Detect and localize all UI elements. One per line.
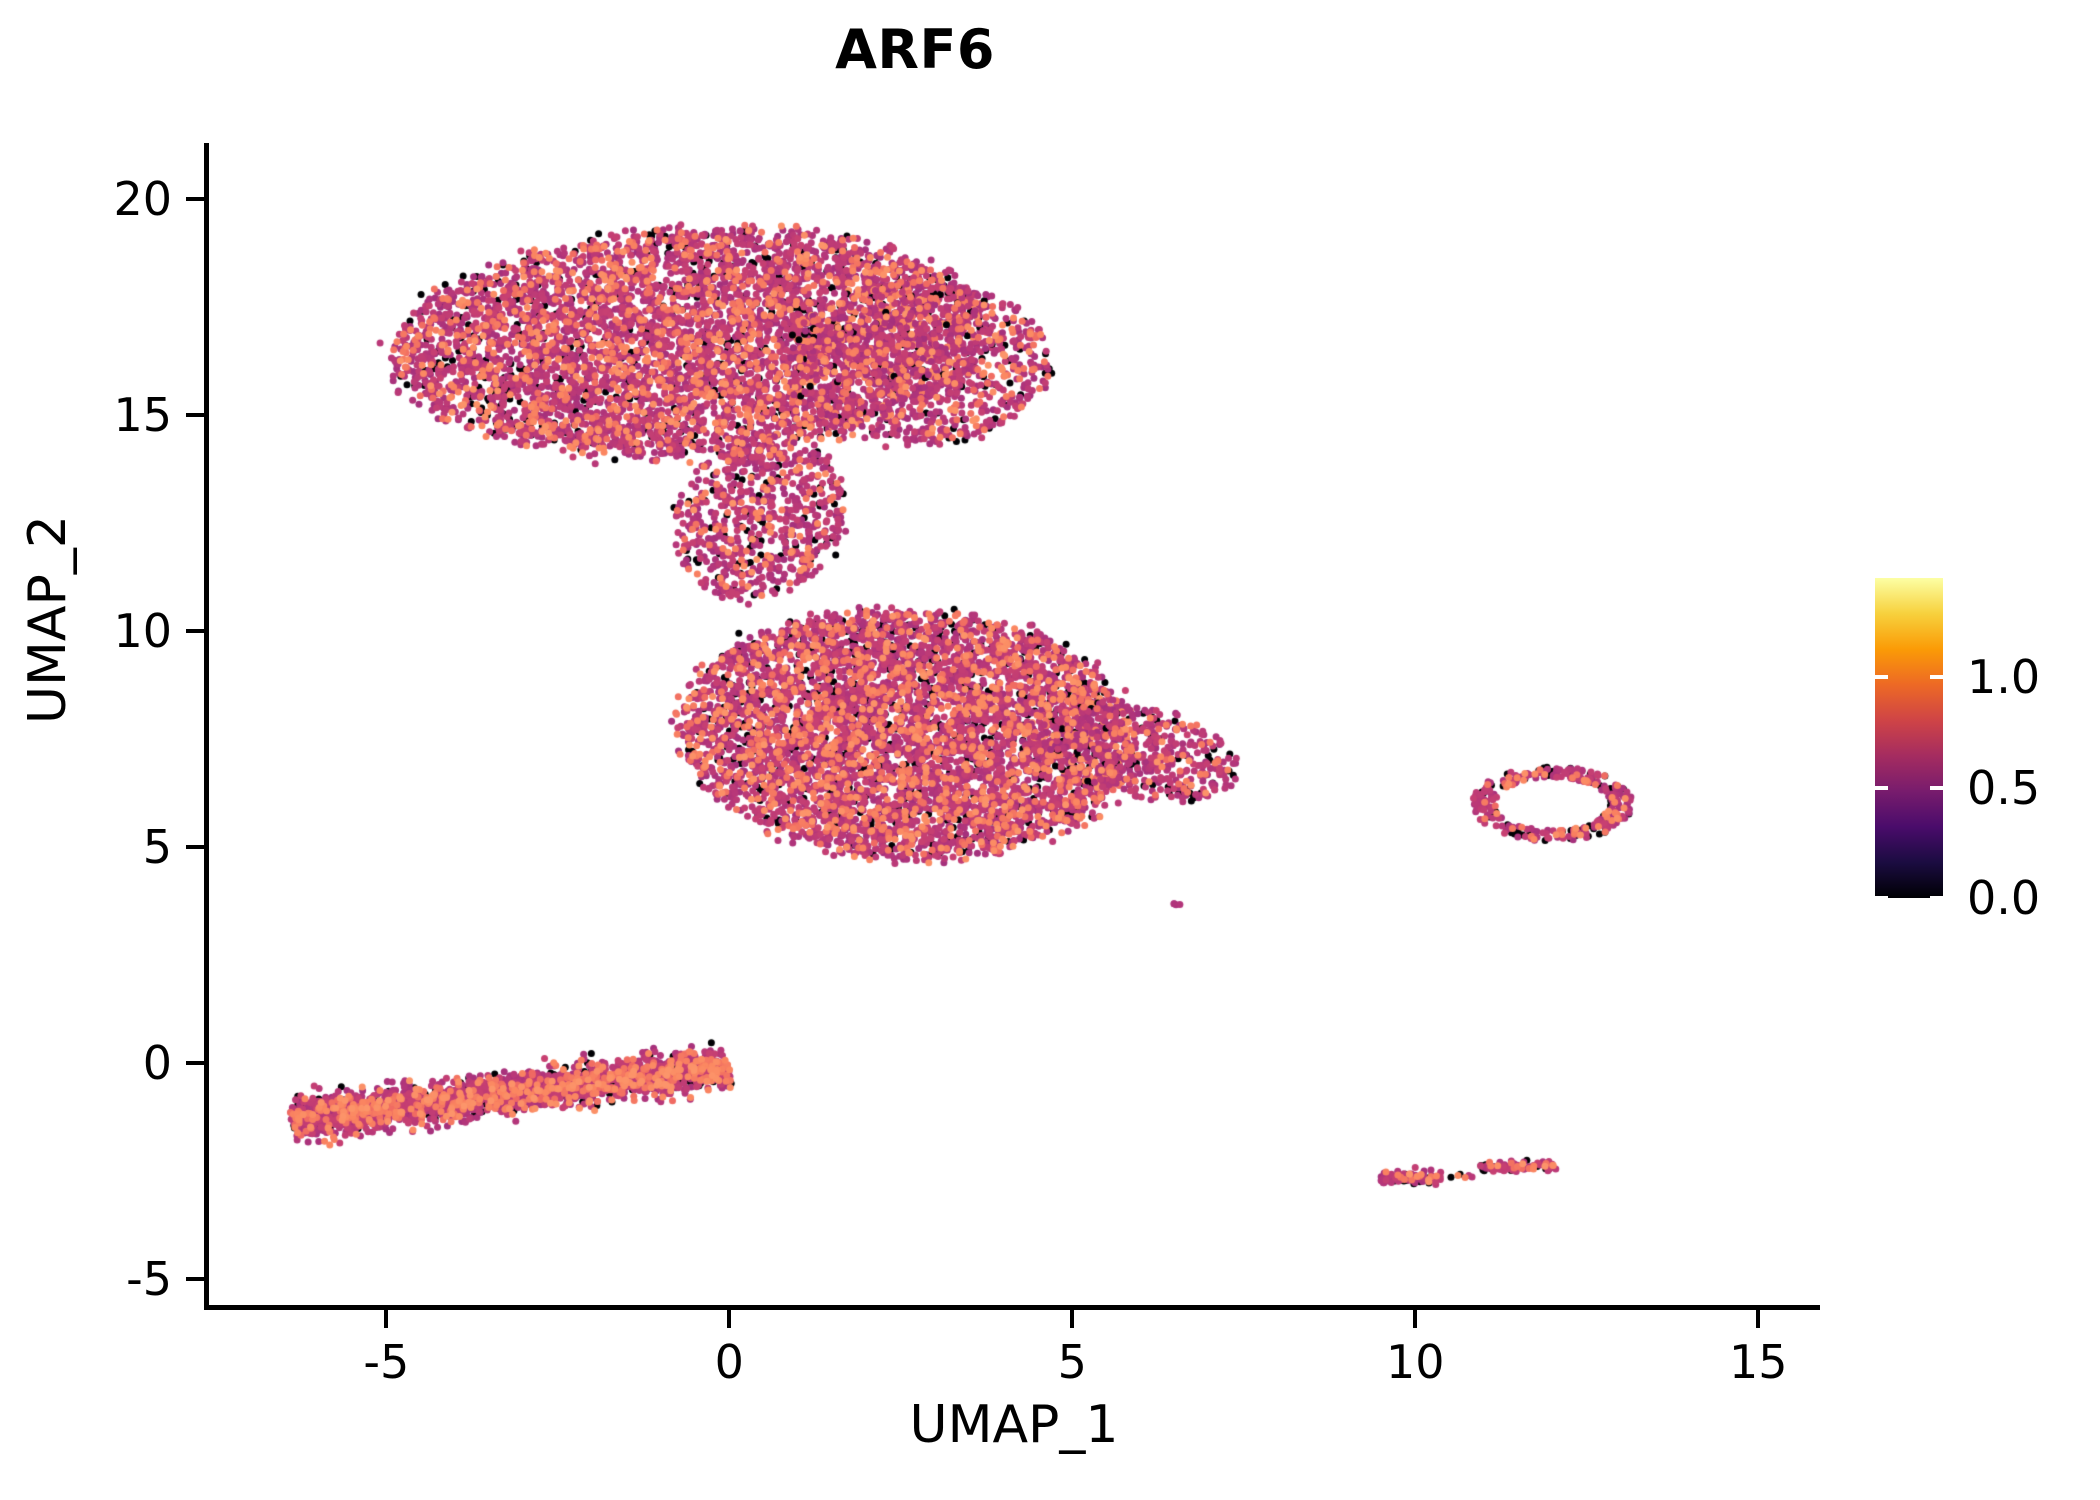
- colorbar-ticklabel: 0.0: [1967, 871, 2040, 925]
- y-tick-20: [186, 197, 204, 201]
- y-tick--5: [186, 1277, 204, 1281]
- y-axis-label: UMAP_2: [18, 515, 78, 724]
- x-axis-spine: [204, 1305, 1820, 1310]
- colorbar-gradient: [1875, 578, 1943, 898]
- colorbar-ticklabel: 0.5: [1967, 761, 2040, 815]
- y-ticklabel: 20: [113, 172, 172, 226]
- colorbar-tick: [1930, 786, 1943, 790]
- umap-feature-plot-figure: ARF6 -5051015 20151050-5 UMAP_1 UMAP_2 0…: [0, 0, 2100, 1500]
- y-ticklabel: 10: [113, 604, 172, 658]
- plot-axes: -5051015 20151050-5: [208, 143, 1820, 1305]
- x-ticklabel: 10: [1386, 1335, 1445, 1389]
- x-tick-0: [727, 1310, 731, 1328]
- page-title: ARF6: [0, 18, 1830, 81]
- y-tick-15: [186, 413, 204, 417]
- x-ticklabel: 5: [1058, 1335, 1087, 1389]
- x-tick-15: [1756, 1310, 1760, 1328]
- x-tick-10: [1413, 1310, 1417, 1328]
- scatter-plot-canvas: [208, 143, 1820, 1305]
- colorbar-tick: [1930, 675, 1943, 679]
- colorbar-tick: [1875, 675, 1888, 679]
- x-ticklabel: 0: [715, 1335, 744, 1389]
- x-tick-5: [1070, 1310, 1074, 1328]
- y-tick-0: [186, 1061, 204, 1065]
- y-ticklabel: 15: [113, 388, 172, 442]
- y-ticklabel: 0: [143, 1036, 172, 1090]
- colorbar: [1875, 578, 1943, 898]
- colorbar-ticklabel: 1.0: [1967, 650, 2040, 704]
- y-ticklabel: 5: [143, 820, 172, 874]
- colorbar-tick: [1875, 896, 1888, 900]
- x-ticklabel: -5: [363, 1335, 409, 1389]
- x-tick--5: [384, 1310, 388, 1328]
- x-axis-label: UMAP_1: [208, 1395, 1820, 1455]
- y-ticklabel: -5: [126, 1252, 172, 1306]
- y-axis-spine: [204, 143, 209, 1305]
- colorbar-tick: [1875, 786, 1888, 790]
- colorbar-tick: [1930, 896, 1943, 900]
- x-ticklabel: 15: [1729, 1335, 1788, 1389]
- y-tick-10: [186, 629, 204, 633]
- y-tick-5: [186, 845, 204, 849]
